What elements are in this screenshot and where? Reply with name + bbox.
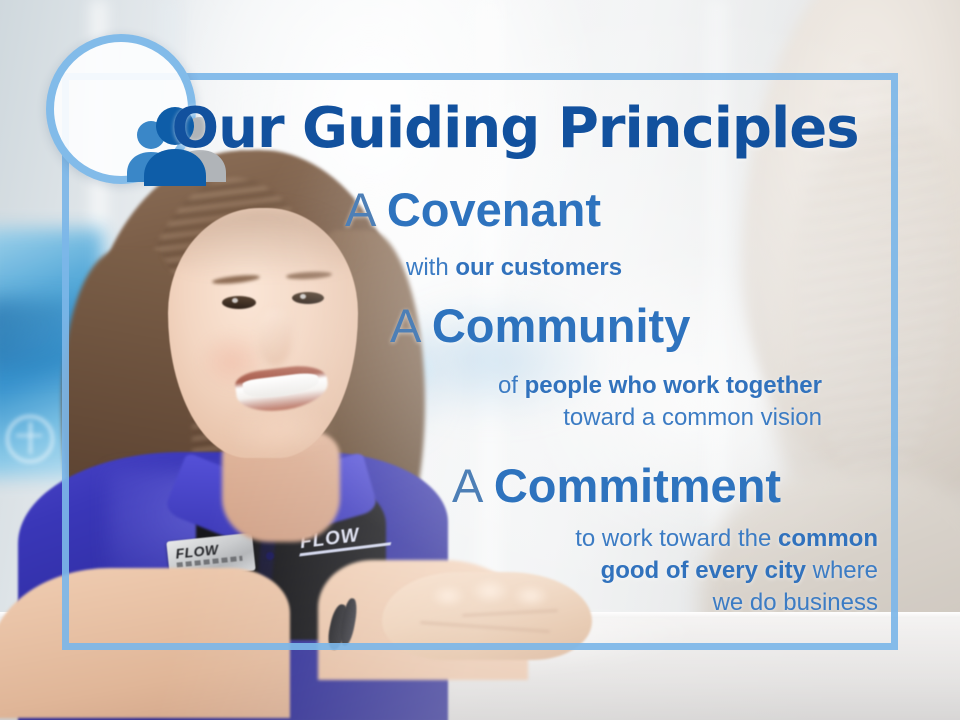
detail-segment-bold: our customers	[455, 254, 622, 281]
detail-segment: toward a common vision	[563, 404, 822, 431]
principle-detail-community: of people who work together toward a com…	[452, 370, 822, 434]
principle-word: Commitment	[494, 459, 781, 512]
detail-segment: we do business	[713, 589, 878, 616]
poster-canvas: FLOW FLOW	[0, 0, 960, 720]
detail-segment: of	[498, 372, 525, 399]
page-title: Our Guiding Principles	[0, 96, 960, 161]
principle-article: A	[390, 299, 419, 352]
principle-detail-commitment: to work toward the common good of every …	[510, 523, 878, 619]
detail-segment: with	[406, 254, 455, 281]
detail-segment: to work toward the	[575, 525, 778, 552]
principle-word: Community	[432, 299, 691, 352]
detail-segment-bold: good of every city	[601, 557, 806, 584]
principle-heading-community: A Community	[390, 302, 690, 351]
principle-article: A	[452, 459, 481, 512]
detail-segment-bold: people who work together	[525, 372, 822, 399]
principle-heading-commitment: A Commitment	[452, 462, 781, 511]
principle-heading-covenant: A Covenant	[345, 186, 601, 235]
detail-segment: where	[806, 557, 878, 584]
detail-segment-bold: common	[778, 525, 878, 552]
principle-article: A	[345, 183, 374, 236]
principle-word: Covenant	[387, 183, 601, 236]
principle-detail-covenant: with our customers	[406, 252, 622, 284]
